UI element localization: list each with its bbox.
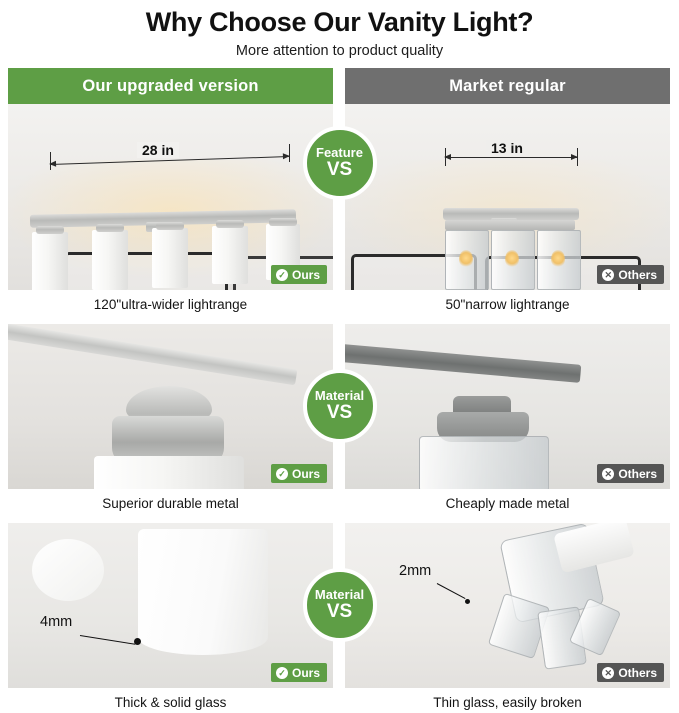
fixture-backplate bbox=[445, 220, 575, 230]
shade-collar-2 bbox=[96, 224, 124, 232]
vs-badge-title: Material bbox=[315, 588, 364, 602]
mirror-frame bbox=[64, 252, 228, 290]
shade-2 bbox=[92, 230, 128, 290]
vs-badge-vs: VS bbox=[327, 602, 352, 622]
ours-metal-photo: ✓ Ours bbox=[8, 324, 333, 489]
ours-cell-feature: Our upgraded version bbox=[8, 68, 333, 315]
theirs-badge: ✕ Others bbox=[597, 464, 664, 483]
vs-badge-glass: Material VS bbox=[303, 568, 377, 642]
shade-top bbox=[94, 456, 244, 489]
ours-feature-caption: 120"ultra-wider lightrange bbox=[8, 290, 333, 315]
theirs-feature-photo: 13 in ✕ Others bbox=[345, 104, 670, 290]
glass-shade bbox=[419, 436, 549, 489]
comparison-row-material-glass: Material VS 4mm ✓ Ours Thick & solid gla bbox=[8, 523, 671, 713]
page-title: Why Choose Our Vanity Light? bbox=[0, 6, 679, 38]
vs-badge-feature: Feature VS bbox=[303, 126, 377, 200]
comparison-row-feature: Feature VS Our upgraded version bbox=[8, 68, 671, 315]
ours-feature-photo: 28 in ✓ Ours bbox=[8, 104, 333, 290]
theirs-badge: ✕ Others bbox=[597, 265, 664, 284]
theirs-badge-label: Others bbox=[618, 666, 657, 680]
ours-badge: ✓ Ours bbox=[271, 464, 327, 483]
shade-1 bbox=[32, 232, 68, 290]
theirs-metal-photo: ✕ Others bbox=[345, 324, 670, 489]
shade-collar-4 bbox=[216, 220, 244, 228]
vs-badge-metal: Material VS bbox=[303, 369, 377, 443]
page-subtitle: More attention to product quality bbox=[0, 43, 679, 59]
theirs-glass-photo: 2mm ✕ Others bbox=[345, 523, 670, 688]
theirs-cell-metal: ✕ Others Cheaply made metal bbox=[345, 324, 670, 514]
measure-label-ours: 4mm bbox=[40, 614, 72, 630]
ours-metal-caption: Superior durable metal bbox=[8, 489, 333, 514]
theirs-header: Market regular bbox=[345, 68, 670, 104]
ours-badge: ✓ Ours bbox=[271, 265, 327, 284]
theirs-metal-caption: Cheaply made metal bbox=[345, 489, 670, 514]
dimension-label-ours: 28 in bbox=[137, 142, 179, 158]
check-icon: ✓ bbox=[276, 468, 288, 480]
filament-1 bbox=[459, 250, 473, 268]
theirs-badge-label: Others bbox=[618, 268, 657, 282]
vs-badge-title: Material bbox=[315, 389, 364, 403]
ours-glass-photo: 4mm ✓ Ours bbox=[8, 523, 333, 688]
comparison-infographic: Why Choose Our Vanity Light? More attent… bbox=[0, 6, 679, 683]
comparison-row-material-metal: Material VS ✓ Ours Superior durable meta… bbox=[8, 324, 671, 514]
ours-cell-metal: ✓ Ours Superior durable metal bbox=[8, 324, 333, 514]
vs-badge-title: Feature bbox=[316, 146, 363, 160]
dimension-line bbox=[445, 157, 577, 158]
theirs-badge: ✕ Others bbox=[597, 663, 664, 682]
cross-icon: ✕ bbox=[602, 269, 614, 281]
ours-badge-label: Ours bbox=[292, 467, 320, 481]
measure-label-theirs: 2mm bbox=[399, 563, 431, 579]
theirs-feature-caption: 50"narrow lightrange bbox=[345, 290, 670, 315]
check-icon: ✓ bbox=[276, 269, 288, 281]
thick-glass-shade bbox=[138, 529, 268, 655]
filament-3 bbox=[551, 250, 565, 268]
glass-rim-detail bbox=[32, 539, 104, 601]
vs-badge-vs: VS bbox=[327, 403, 352, 423]
measure-dot-theirs bbox=[465, 599, 470, 604]
ours-badge-label: Ours bbox=[292, 666, 320, 680]
ours-badge: ✓ Ours bbox=[271, 663, 327, 682]
shade-4 bbox=[212, 226, 248, 284]
ours-badge-label: Ours bbox=[292, 268, 320, 282]
ours-header: Our upgraded version bbox=[8, 68, 333, 104]
shade-3 bbox=[152, 228, 188, 288]
ours-glass-caption: Thick & solid glass bbox=[8, 688, 333, 713]
theirs-badge-label: Others bbox=[618, 467, 657, 481]
theirs-cell-feature: Market regular bbox=[345, 68, 670, 315]
comparison-grid: Feature VS Our upgraded version bbox=[8, 68, 671, 713]
shade-collar-3 bbox=[156, 222, 184, 230]
cross-icon: ✕ bbox=[602, 468, 614, 480]
theirs-glass-caption: Thin glass, easily broken bbox=[345, 688, 670, 713]
shade-collar-5 bbox=[269, 218, 297, 226]
dimension-label-theirs: 13 in bbox=[486, 140, 528, 156]
shade-collar-1 bbox=[36, 226, 64, 234]
ours-cell-glass: 4mm ✓ Ours Thick & solid glass bbox=[8, 523, 333, 713]
theirs-cell-glass: 2mm ✕ Others Thin glass, easily broken bbox=[345, 523, 670, 713]
filament-2 bbox=[505, 250, 519, 268]
vs-badge-vs: VS bbox=[327, 160, 352, 180]
